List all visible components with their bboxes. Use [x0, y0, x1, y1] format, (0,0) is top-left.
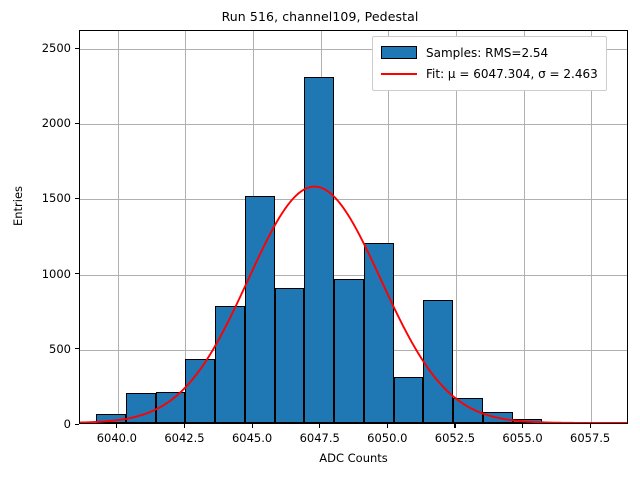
- matplotlib-figure: Run 516, channel109, Pedestal Entries AD…: [0, 0, 640, 480]
- y-tick-label: 1000: [0, 267, 71, 281]
- x-tick-label: 6045.0: [232, 431, 272, 445]
- y-tick-label: 500: [0, 342, 71, 356]
- legend-patch-icon: [381, 46, 417, 59]
- x-tick-mark: [454, 424, 455, 428]
- legend-item-samples: Samples: RMS=2.54: [381, 42, 598, 63]
- y-tick-label: 0: [0, 417, 71, 431]
- x-tick-mark: [252, 424, 253, 428]
- legend-line-icon: [381, 67, 417, 80]
- legend-item-fit: Fit: μ = 6047.304, σ = 2.463: [381, 63, 598, 84]
- y-tick-label: 2000: [0, 116, 71, 130]
- x-axis-label: ADC Counts: [79, 451, 628, 465]
- page-title: Run 516, channel109, Pedestal: [0, 9, 640, 24]
- x-tick-label: 6040.0: [97, 431, 137, 445]
- x-tick-label: 6047.5: [300, 431, 340, 445]
- x-tick-label: 6057.5: [570, 431, 610, 445]
- x-tick-label: 6042.5: [164, 431, 204, 445]
- x-tick-mark: [116, 424, 117, 428]
- y-tick-label: 1500: [0, 191, 71, 205]
- y-axis-label: Entries: [11, 126, 25, 286]
- x-tick-mark: [319, 424, 320, 428]
- x-tick-mark: [387, 424, 388, 428]
- legend-label-samples: Samples: RMS=2.54: [426, 46, 548, 60]
- x-tick-label: 6052.5: [435, 431, 475, 445]
- y-tick-label: 2500: [0, 41, 71, 55]
- x-tick-mark: [184, 424, 185, 428]
- x-tick-mark: [590, 424, 591, 428]
- x-tick-label: 6050.0: [367, 431, 407, 445]
- legend: Samples: RMS=2.54 Fit: μ = 6047.304, σ =…: [372, 36, 607, 91]
- legend-label-fit: Fit: μ = 6047.304, σ = 2.463: [426, 67, 598, 81]
- x-tick-label: 6055.0: [502, 431, 542, 445]
- x-tick-mark: [522, 424, 523, 428]
